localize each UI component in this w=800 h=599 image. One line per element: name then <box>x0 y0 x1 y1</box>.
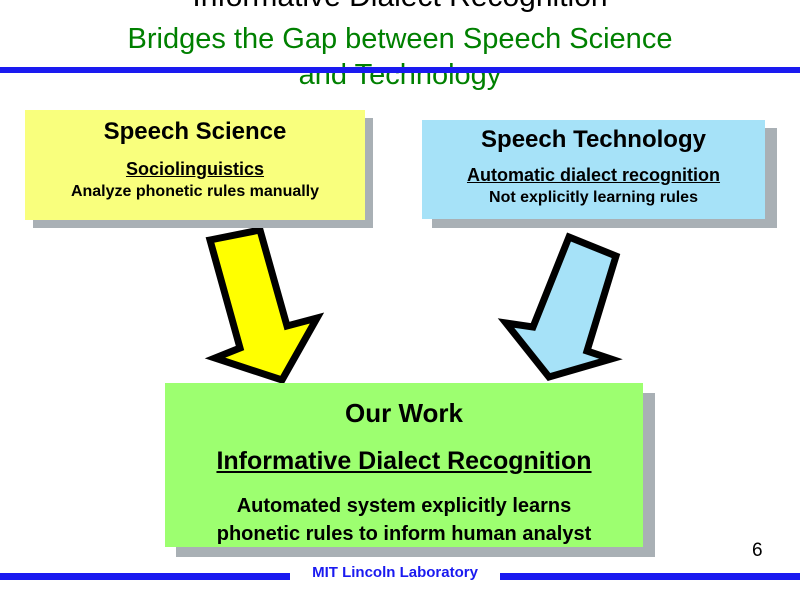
our-work-title: Our Work <box>165 396 643 430</box>
slide-subtitle-line-2: and Technology <box>40 57 760 93</box>
our-work-subtext-line-2: phonetic rules to inform human analyst <box>165 520 643 548</box>
header-divider-line <box>0 67 800 73</box>
footer-organization: MIT Lincoln Laboratory <box>290 564 500 581</box>
speech-technology-box: Speech Technology Automatic dialect reco… <box>422 120 765 219</box>
speech-science-heading: Sociolinguistics <box>126 157 264 181</box>
our-work-heading: Informative Dialect Recognition <box>216 444 591 478</box>
speech-technology-title: Speech Technology <box>422 125 765 155</box>
down-right-arrow-icon <box>182 228 327 384</box>
page-number: 6 <box>752 540 763 562</box>
footer-line-left <box>0 573 290 580</box>
down-left-arrow-icon <box>481 231 631 383</box>
speech-technology-subtext: Not explicitly learning rules <box>422 187 765 208</box>
slide-subtitle-line-1: Bridges the Gap between Speech Science <box>40 21 760 57</box>
speech-science-box: Speech Science Sociolinguistics Analyze … <box>25 110 365 220</box>
our-work-box: Our Work Informative Dialect Recognition… <box>165 383 643 547</box>
presentation-slide: Informative Dialect Recognition Bridges … <box>0 0 800 599</box>
speech-science-title: Speech Science <box>25 117 365 147</box>
slide-subtitle: Bridges the Gap between Speech Science a… <box>40 21 760 93</box>
footer-line-right <box>500 573 800 580</box>
speech-science-subtext: Analyze phonetic rules manually <box>25 181 365 202</box>
our-work-subtext-line-1: Automated system explicitly learns <box>165 492 643 520</box>
slide-title: Informative Dialect Recognition <box>0 0 800 14</box>
speech-technology-heading: Automatic dialect recognition <box>467 163 720 187</box>
